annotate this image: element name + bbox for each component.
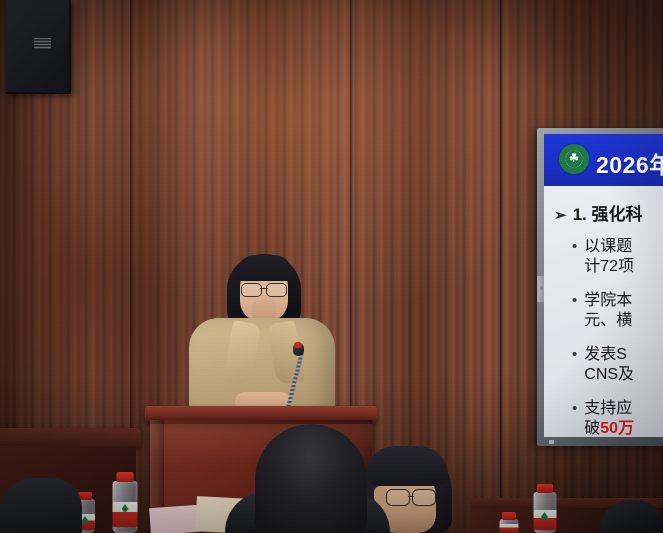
water-bottle: [497, 512, 521, 533]
bullet-line-2: 计72项: [584, 258, 634, 275]
presentation-slide: ☘ 2026年 ➢ 1. 强化科 • 以课题 计72项: [544, 134, 663, 437]
bullet-dot-icon: •: [572, 399, 577, 437]
wall-speaker-panel: [6, 0, 71, 94]
bullet-line-1: 支持应: [584, 400, 632, 417]
speaker-grill-icon: [34, 38, 51, 49]
microphone-tip-icon: [294, 342, 302, 348]
bullet-text: 以课题 计72项: [584, 237, 634, 277]
screen-display-area: ☘ 2026年 ➢ 1. 强化科 • 以课题 计72项: [544, 134, 663, 437]
display-screen: › ☘ 2026年 ➢ 1. 强化科 •: [537, 128, 663, 446]
wall-seam: [500, 0, 503, 533]
bullet-line-2: 元、横: [584, 312, 632, 329]
bullet-line-1: 发表S: [584, 346, 627, 363]
bullet-dot-icon: •: [572, 291, 577, 331]
arrow-bullet-icon: ➢: [554, 206, 567, 224]
leaf-icon: [122, 504, 129, 513]
bullet-line-2: CNS及: [584, 366, 634, 383]
speaker-glasses: [241, 283, 287, 295]
bullet-line-1: 以课题: [584, 238, 632, 255]
front-table-surface-left: [0, 428, 141, 448]
glasses-lens-right: [412, 489, 436, 506]
slide-heading-text: 1. 强化科: [573, 200, 643, 225]
bullet-dot-icon: •: [572, 237, 577, 277]
slide-section-heading: ➢ 1. 强化科: [554, 200, 663, 225]
slide-header-band: ☘ 2026年: [544, 134, 663, 186]
bottle-cap: [117, 472, 134, 482]
leaf-icon: [82, 516, 89, 525]
audience-glasses: [386, 489, 436, 504]
bottle-label: [533, 510, 556, 530]
water-bottle: [529, 484, 560, 533]
list-item: • 以课题 计72项: [572, 237, 663, 277]
bullet-text: 发表S CNS及: [584, 345, 634, 385]
glasses-lens-left: [241, 283, 262, 297]
bottle-label: [500, 524, 519, 533]
bullet-text: 支持应 破50万: [584, 399, 634, 437]
slide-title: 2026年: [596, 146, 663, 180]
bullet-line-2: 破: [584, 420, 600, 437]
institution-seal-logo: ☘: [559, 144, 589, 174]
bottle-cap: [502, 512, 516, 520]
bullet-line-1: 学院本: [584, 292, 632, 309]
presentation-photo: › ☘ 2026年 ➢ 1. 强化科 •: [0, 0, 663, 533]
bottle-label: [113, 502, 138, 527]
bullet-dot-icon: •: [572, 345, 577, 385]
glasses-lens-left: [386, 489, 410, 506]
slide-body: ➢ 1. 强化科 • 以课题 计72项 • 学院本: [544, 186, 663, 437]
bullet-highlight-amount: 50万: [600, 420, 634, 437]
glasses-lens-right: [266, 283, 287, 297]
speaker-fringe: [236, 255, 293, 281]
list-item: • 发表S CNS及: [572, 345, 663, 385]
logo-mark-icon: ☘: [569, 154, 579, 165]
leaf-icon: [541, 512, 548, 521]
water-bottle: [108, 472, 142, 533]
audience-member-front-left: [255, 424, 367, 533]
bullet-text: 学院本 元、横: [584, 291, 632, 331]
audience-member-far-left: [0, 478, 82, 533]
screen-power-led: [549, 440, 554, 444]
list-item: • 支持应 破50万: [572, 399, 663, 437]
list-item: • 学院本 元、横: [572, 291, 663, 331]
bottle-cap: [537, 484, 553, 493]
audience-hair: [366, 446, 448, 486]
